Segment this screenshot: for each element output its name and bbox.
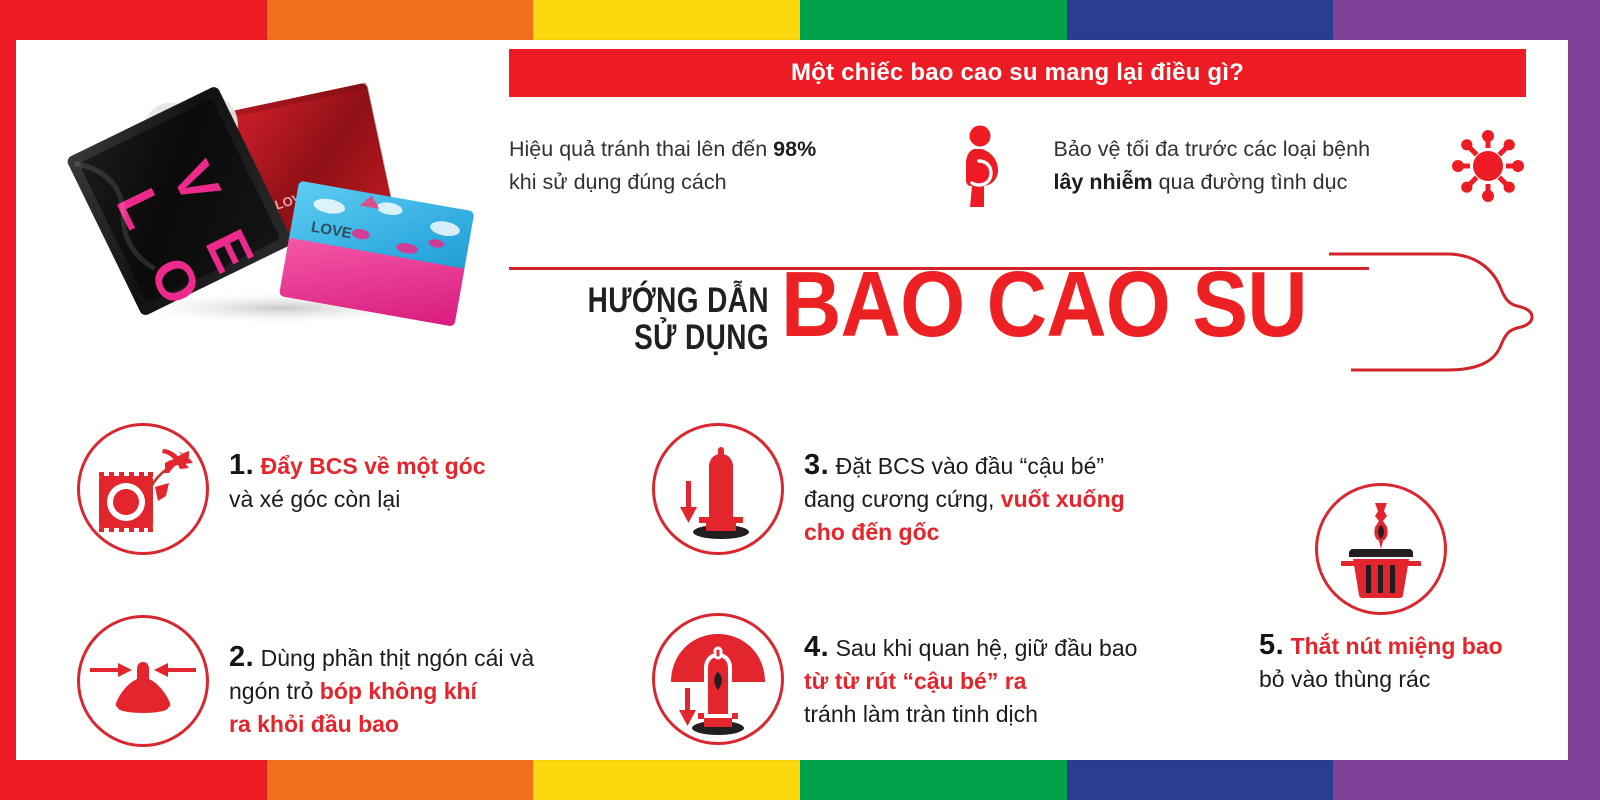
left-red-border bbox=[0, 0, 16, 800]
step-3-highlight-2: cho đến gốc bbox=[804, 519, 939, 545]
stripe-yellow bbox=[533, 0, 800, 40]
step-4-number: 4. bbox=[804, 631, 829, 663]
step-item-1: 1. Đẩy BCS về một góc và xé góc còn lại bbox=[77, 423, 486, 555]
benefit-text: Hiệu quả tránh thai lên đến 98% khi sử d… bbox=[509, 133, 942, 199]
benefit-line-1: Bảo vệ tối đa trước các loại bệnh bbox=[1054, 133, 1451, 166]
step-2-badge bbox=[77, 615, 209, 747]
step-4-text: 4. Sau khi quan hệ, giữ đầu bao từ từ rú… bbox=[784, 613, 1137, 731]
pregnant-woman-icon bbox=[942, 125, 1018, 207]
step-2-number: 2. bbox=[229, 641, 254, 673]
step-5-number: 5. bbox=[1259, 629, 1284, 661]
step-1-line-1: 1. Đẩy BCS về một góc bbox=[229, 449, 486, 483]
condom-packets-photo: LOVE L O V E bbox=[61, 58, 481, 328]
header-bar: Một chiếc bao cao su mang lại điều gì? bbox=[509, 49, 1526, 97]
benefit-line-1-pre: Hiệu quả tránh thai lên đến bbox=[509, 137, 773, 161]
step-2-highlight-2: ra khỏi đầu bao bbox=[229, 711, 399, 737]
step-5-line-1: 5. Thắt nút miệng bao bbox=[1259, 629, 1503, 663]
benefit-line-2: lây nhiễm qua đường tình dục bbox=[1054, 166, 1451, 199]
step-1-highlight: Đẩy BCS về một góc bbox=[261, 453, 486, 479]
step-1-line-2: và xé góc còn lại bbox=[229, 483, 486, 516]
benefit-line-2-post: qua đường tình dục bbox=[1153, 170, 1348, 194]
step-3-line-1: 3. Đặt BCS vào đầu “cậu bé” bbox=[804, 449, 1125, 483]
step-item-4: 4. Sau khi quan hệ, giữ đầu bao từ từ rú… bbox=[652, 613, 1137, 745]
benefit-line-1: Hiệu quả tránh thai lên đến 98% bbox=[509, 133, 936, 166]
step-3-text: 3. Đặt BCS vào đầu “cậu bé” đang cương c… bbox=[784, 423, 1125, 549]
benefit-emphasis: lây nhiễm bbox=[1054, 170, 1153, 194]
tie-knot-trash-icon bbox=[1329, 497, 1433, 601]
title-secondary-line-1: HƯỚNG DẪN bbox=[567, 282, 769, 319]
stripe-green bbox=[800, 760, 1067, 800]
step-2-line-2: ngón trỏ bóp không khí bbox=[229, 675, 534, 708]
right-purple-border bbox=[1568, 0, 1600, 800]
step-3-line-3: cho đến gốc bbox=[804, 516, 1125, 549]
step-2-text: 2. Dùng phần thịt ngón cái và ngón trỏ b… bbox=[209, 615, 534, 741]
page-title: Một chiếc bao cao su mang lại điều gì? bbox=[791, 59, 1244, 87]
step-4-highlight: từ từ rút “cậu bé” ra bbox=[804, 668, 1026, 694]
condom-outline-icon bbox=[1329, 251, 1539, 378]
step-1-detail: và xé góc còn lại bbox=[229, 486, 400, 512]
stripe-yellow bbox=[533, 760, 800, 800]
step-item-2: 2. Dùng phần thịt ngón cái và ngón trỏ b… bbox=[77, 615, 534, 747]
step-5-badge bbox=[1315, 483, 1447, 615]
top-rainbow-border bbox=[0, 0, 1600, 40]
step-5-detail: bỏ vào thùng rác bbox=[1259, 666, 1430, 692]
benefits-row: Hiệu quả tránh thai lên đến 98% khi sử d… bbox=[509, 118, 1526, 214]
step-4-line-3: tránh làm tràn tinh dịch bbox=[804, 698, 1137, 731]
step-3-detail-1: Đặt BCS vào đầu “cậu bé” bbox=[836, 453, 1104, 479]
stripe-orange bbox=[267, 760, 534, 800]
infographic-poster: LOVE L O V E bbox=[0, 0, 1600, 800]
benefit-sti-protection: Bảo vệ tối đa trước các loại bệnh lây nh… bbox=[1018, 118, 1527, 214]
step-4-detail-2: tránh làm tràn tinh dịch bbox=[804, 701, 1038, 727]
main-title-block: HƯỚNG DẪN SỬ DỤNG BAO CAO SU bbox=[509, 225, 1539, 400]
stripe-red bbox=[0, 0, 267, 40]
step-2-highlight-1: bóp không khí bbox=[320, 678, 477, 704]
pinch-air-arrows-icon bbox=[88, 640, 198, 722]
stripe-purple bbox=[1333, 760, 1600, 800]
title-secondary: HƯỚNG DẪN SỬ DỤNG bbox=[567, 282, 769, 356]
poster-canvas: LOVE L O V E bbox=[16, 40, 1568, 760]
step-3-highlight-1: vuốt xuống bbox=[1001, 486, 1125, 512]
stripe-red bbox=[0, 760, 267, 800]
step-2-line-3: ra khỏi đầu bao bbox=[229, 708, 534, 741]
step-item-3: 3. Đặt BCS vào đầu “cậu bé” đang cương c… bbox=[652, 423, 1125, 555]
title-primary: BAO CAO SU bbox=[781, 257, 1307, 352]
virus-icon bbox=[1450, 130, 1526, 202]
step-2-detail-2: ngón trỏ bbox=[229, 678, 320, 704]
step-4-detail-1: Sau khi quan hệ, giữ đầu bao bbox=[836, 635, 1138, 661]
stripe-purple bbox=[1333, 0, 1600, 40]
benefit-line-2: khi sử dụng đúng cách bbox=[509, 166, 936, 199]
condom-roll-down-icon bbox=[666, 437, 770, 541]
step-4-line-1: 4. Sau khi quan hệ, giữ đầu bao bbox=[804, 631, 1137, 665]
title-secondary-line-2: SỬ DỤNG bbox=[567, 319, 769, 356]
step-4-line-2: từ từ rút “cậu bé” ra bbox=[804, 665, 1137, 698]
step-3-line-2: đang cương cứng, vuốt xuống bbox=[804, 483, 1125, 516]
step-5-text: 5. Thắt nút miệng bao bỏ vào thùng rác bbox=[1259, 615, 1503, 696]
stripe-blue bbox=[1067, 760, 1334, 800]
step-3-detail-2: đang cương cứng, bbox=[804, 486, 1001, 512]
condom-packet-tear-icon bbox=[91, 441, 195, 537]
benefit-contraception: Hiệu quả tránh thai lên đến 98% khi sử d… bbox=[509, 118, 1018, 214]
step-2-line-1: 2. Dùng phần thịt ngón cái và bbox=[229, 641, 534, 675]
step-1-number: 1. bbox=[229, 449, 254, 481]
step-1-badge bbox=[77, 423, 209, 555]
stripe-blue bbox=[1067, 0, 1334, 40]
step-5-line-2: bỏ vào thùng rác bbox=[1259, 663, 1503, 696]
bottom-rainbow-border bbox=[0, 760, 1600, 800]
benefit-percentage: 98% bbox=[773, 137, 816, 161]
stripe-green bbox=[800, 0, 1067, 40]
step-3-badge bbox=[652, 423, 784, 555]
step-4-badge bbox=[652, 613, 784, 745]
benefit-text: Bảo vệ tối đa trước các loại bệnh lây nh… bbox=[1018, 133, 1451, 199]
step-5-highlight: Thắt nút miệng bao bbox=[1291, 633, 1503, 659]
step-2-detail-1: Dùng phần thịt ngón cái và bbox=[261, 645, 535, 671]
step-3-number: 3. bbox=[804, 449, 829, 481]
step-item-5: 5. Thắt nút miệng bao bỏ vào thùng rác bbox=[1259, 483, 1503, 696]
hold-base-withdraw-icon bbox=[655, 616, 781, 742]
stripe-orange bbox=[267, 0, 534, 40]
step-1-text: 1. Đẩy BCS về một góc và xé góc còn lại bbox=[209, 423, 486, 516]
